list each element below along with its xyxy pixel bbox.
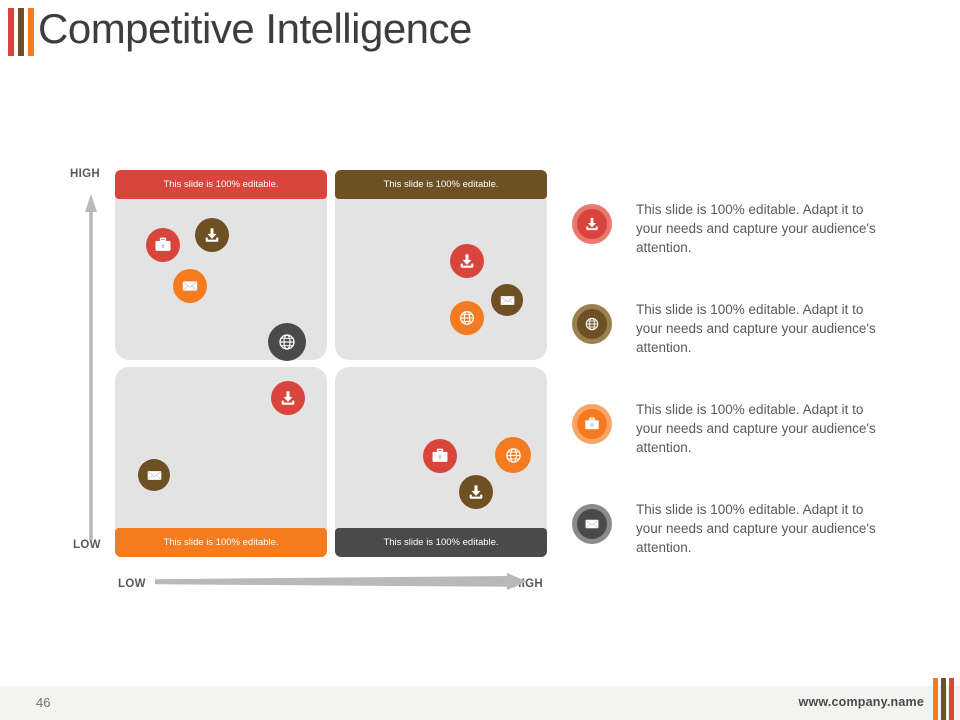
page-title: Competitive Intelligence [38,1,472,57]
quadrant-bottom-left-label[interactable]: This slide is 100% editable. [115,528,327,557]
briefcase-icon[interactable] [423,439,457,473]
list-item-text: This slide is 100% editable. Adapt it to… [636,200,892,257]
y-axis-high-label: HIGH [70,168,100,180]
footer-page-number: 46 [36,695,50,710]
envelope-icon-ring[interactable] [572,504,612,544]
envelope-icon[interactable] [138,459,170,491]
download-icon[interactable] [195,218,229,252]
list-item[interactable]: This slide is 100% editable. Adapt it to… [572,400,902,500]
list-item-text: This slide is 100% editable. Adapt it to… [636,400,892,457]
footer-accent-bars [933,678,957,720]
download-icon[interactable] [450,244,484,278]
bullet-list: This slide is 100% editable. Adapt it to… [572,200,902,600]
footer-bar: 46 www.company.name [0,686,960,720]
envelope-icon [577,509,607,539]
globe-icon [577,309,607,339]
briefcase-icon[interactable] [146,228,180,262]
quadrant-matrix: HIGH LOW LOW HIGH This slide is 100% edi… [60,160,560,600]
briefcase-icon [577,409,607,439]
title-accent-bars [8,8,38,56]
list-item-text: This slide is 100% editable. Adapt it to… [636,500,892,557]
x-axis-low-label: LOW [118,578,146,590]
list-item[interactable]: This slide is 100% editable. Adapt it to… [572,300,902,400]
globe-icon-ring[interactable] [572,304,612,344]
download-icon-ring[interactable] [572,204,612,244]
list-item[interactable]: This slide is 100% editable. Adapt it to… [572,500,902,600]
brown-bar [18,8,24,56]
red-bar [949,678,954,720]
globe-icon[interactable] [495,437,531,473]
footer-url: www.company.name [799,695,924,709]
brown-bar [941,678,946,720]
briefcase-icon-ring[interactable] [572,404,612,444]
quadrant-top-left-label[interactable]: This slide is 100% editable. [115,170,327,199]
list-item-text: This slide is 100% editable. Adapt it to… [636,300,892,357]
list-item[interactable]: This slide is 100% editable. Adapt it to… [572,200,902,300]
quadrant-bottom-right-label[interactable]: This slide is 100% editable. [335,528,547,557]
globe-icon[interactable] [450,301,484,335]
download-icon[interactable] [459,475,493,509]
download-icon[interactable] [271,381,305,415]
x-axis-arrow-icon [155,573,537,591]
download-icon [577,209,607,239]
globe-icon[interactable] [268,323,306,361]
envelope-icon[interactable] [491,284,523,316]
red-bar [8,8,14,56]
quadrant-top-right-label[interactable]: This slide is 100% editable. [335,170,547,199]
y-axis-arrow-icon [80,182,102,554]
orange-bar [28,8,34,56]
envelope-icon[interactable] [173,269,207,303]
orange-bar [933,678,938,720]
